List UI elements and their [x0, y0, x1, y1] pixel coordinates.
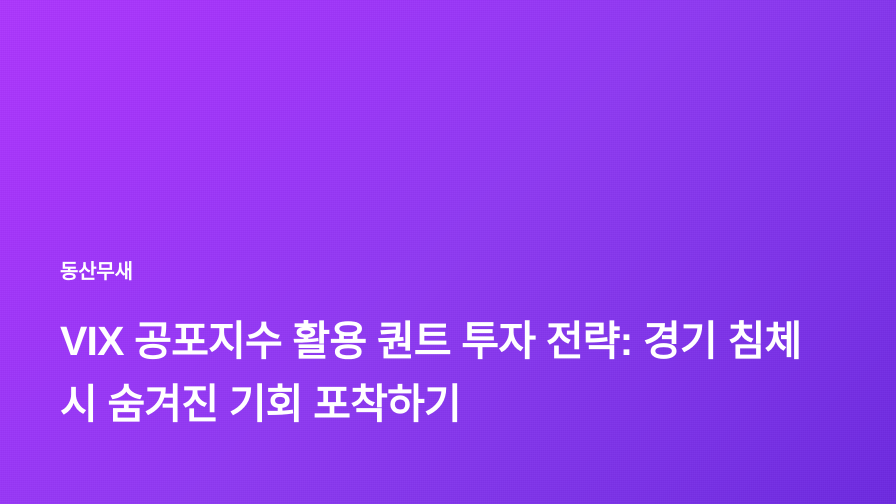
blog-name: 동산무새	[60, 260, 836, 284]
headline-line-1: VIX 공포지수 활용 퀀트 투자 전략: 경기	[60, 318, 717, 364]
article-banner: 동산무새 VIX 공포지수 활용 퀀트 투자 전략: 경기 침체 시 숨겨진 기…	[0, 0, 896, 504]
banner-text-block: 동산무새 VIX 공포지수 활용 퀀트 투자 전략: 경기 침체 시 숨겨진 기…	[60, 260, 836, 436]
article-headline: VIX 공포지수 활용 퀀트 투자 전략: 경기 침체 시 숨겨진 기회 포착하…	[60, 310, 820, 436]
